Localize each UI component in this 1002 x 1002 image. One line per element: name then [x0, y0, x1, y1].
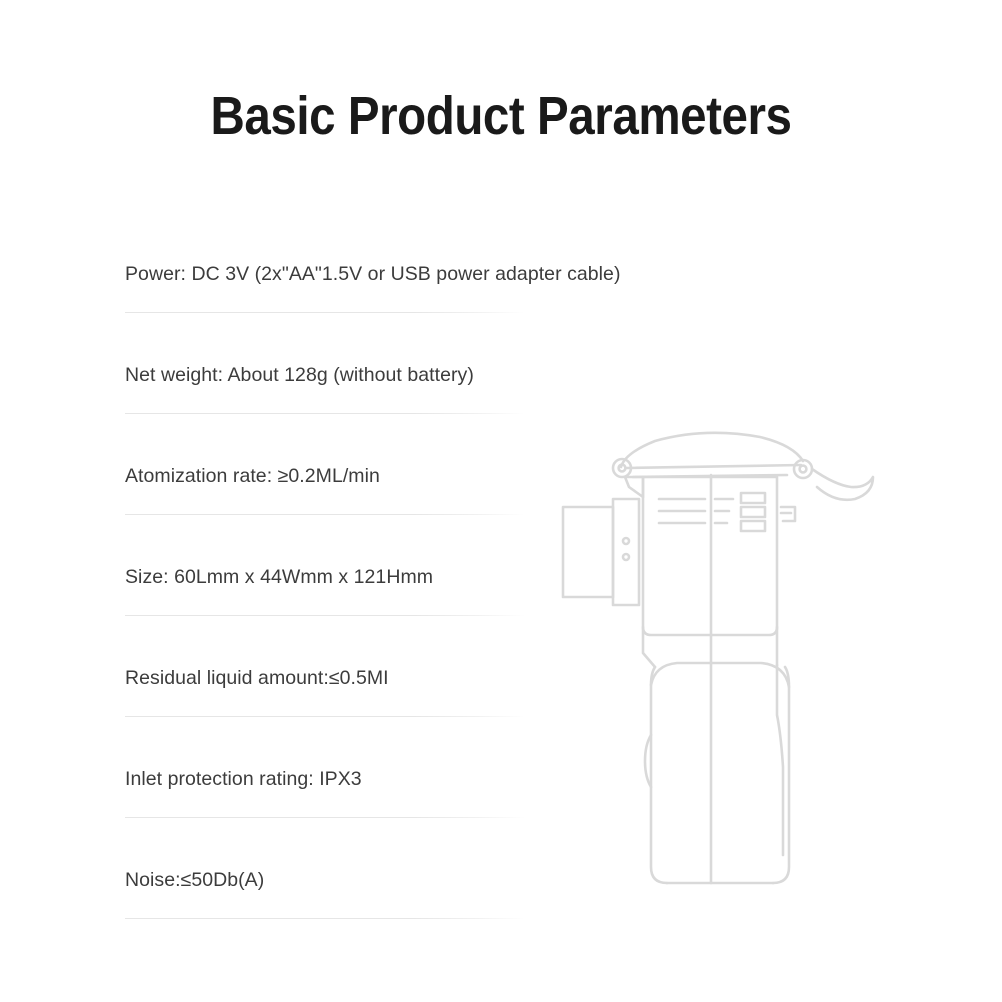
- spec-text-size: Size: 60Lmm x 44Wmm x 121Hmm: [125, 565, 433, 589]
- spec-text-atomization-rate: Atomization rate: ≥0.2ML/min: [125, 464, 380, 488]
- spec-text-inlet-protection: Inlet protection rating: IPX3: [125, 767, 362, 791]
- spec-row: Inlet protection rating: IPX3: [125, 767, 525, 868]
- spec-row: Noise:≤50Db(A): [125, 868, 525, 969]
- spec-row: Atomization rate: ≥0.2ML/min: [125, 464, 525, 565]
- nebulizer-outline-icon: [555, 415, 885, 905]
- spec-divider: [125, 514, 525, 515]
- spec-divider: [125, 817, 525, 818]
- spec-text-net-weight: Net weight: About 128g (without battery): [125, 363, 474, 387]
- product-parameters-page: Basic Product Parameters Power: DC 3V (2…: [0, 0, 1002, 1002]
- spec-row: Power: DC 3V (2x"AA"1.5V or USB power ad…: [125, 262, 525, 363]
- product-illustration: [555, 415, 885, 905]
- spec-divider: [125, 918, 525, 919]
- spec-row: Size: 60Lmm x 44Wmm x 121Hmm: [125, 565, 525, 666]
- spec-divider: [125, 716, 525, 717]
- spec-row: Net weight: About 128g (without battery): [125, 363, 525, 464]
- spec-divider: [125, 413, 525, 414]
- spec-list: Power: DC 3V (2x"AA"1.5V or USB power ad…: [125, 262, 525, 969]
- spec-text-power: Power: DC 3V (2x"AA"1.5V or USB power ad…: [125, 262, 621, 286]
- spec-text-noise: Noise:≤50Db(A): [125, 868, 264, 892]
- spec-divider: [125, 615, 525, 616]
- spec-divider: [125, 312, 525, 313]
- spec-text-residual-liquid: Residual liquid amount:≤0.5MI: [125, 666, 389, 690]
- spec-row: Residual liquid amount:≤0.5MI: [125, 666, 525, 767]
- page-title: Basic Product Parameters: [60, 88, 942, 145]
